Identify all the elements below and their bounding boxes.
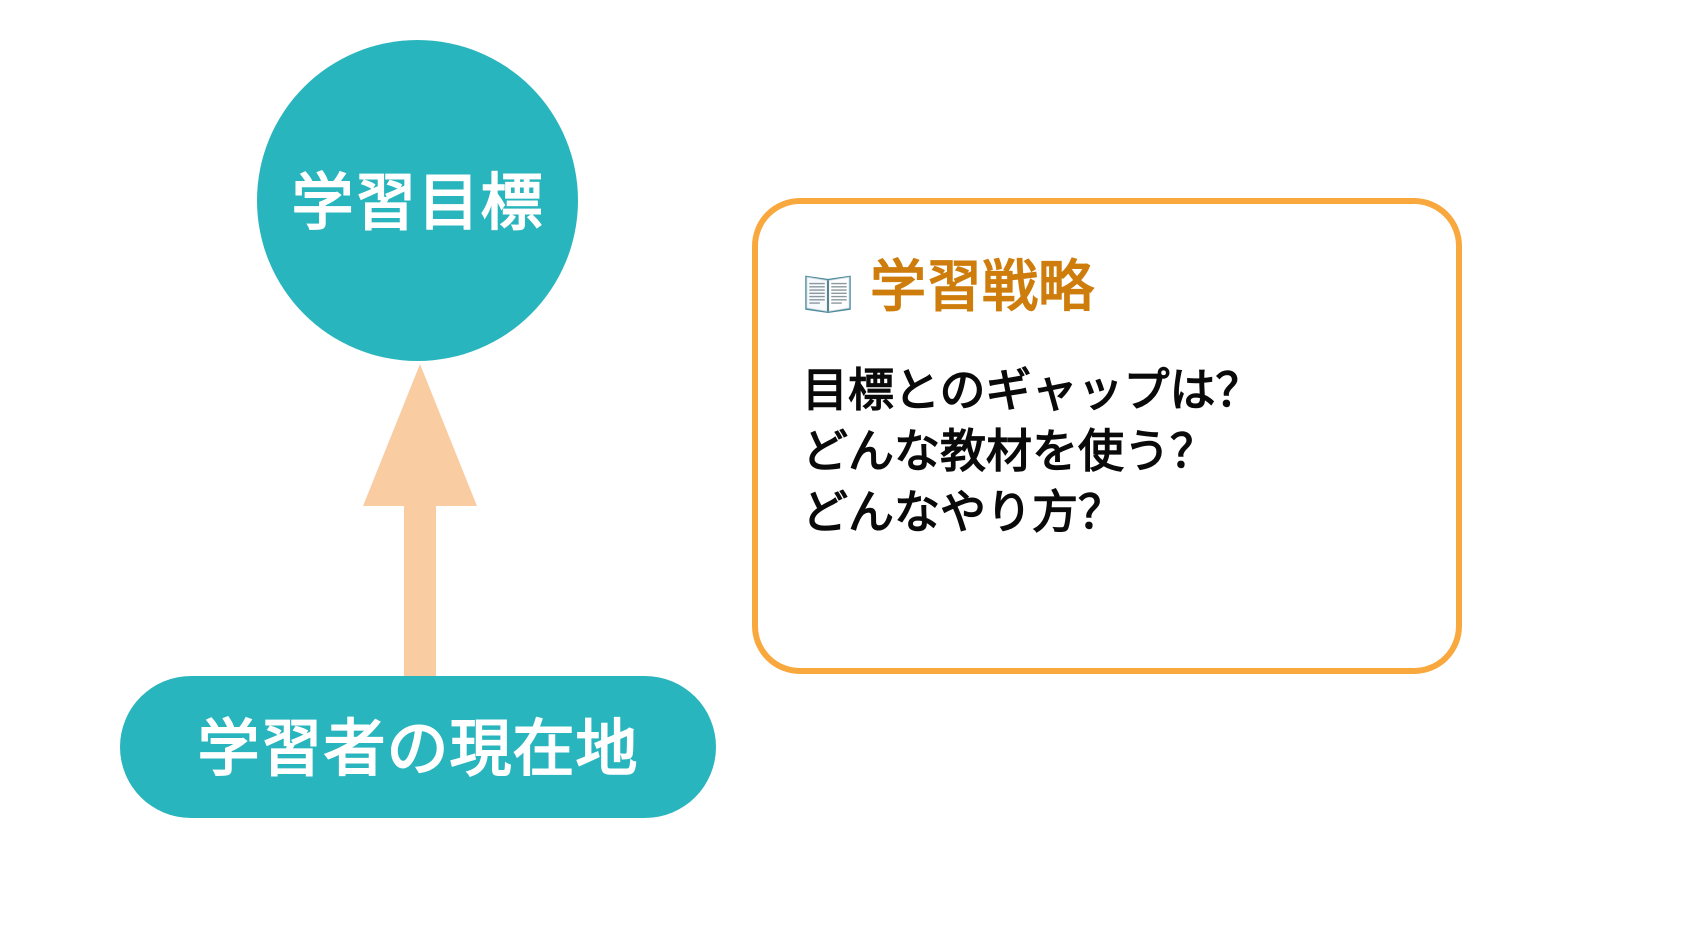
open-book-icon <box>802 265 854 317</box>
learner-current-position-label: 学習者の現在地 <box>197 718 638 780</box>
strategy-question-item: どんなやり方？ <box>802 482 1416 543</box>
slide-canvas: 学習目標 学習者の現在地 <box>0 0 1682 944</box>
learning-strategy-card: 学習戦略 目標とのギャップは？ どんな教材を使う？ どんなやり方？ <box>752 198 1462 674</box>
learning-goal-label: 学習目標 <box>291 172 543 234</box>
strategy-card-heading: 学習戦略 <box>802 260 1416 316</box>
strategy-card-title: 学習戦略 <box>870 260 1094 316</box>
learner-current-position-node: 学習者の現在地 <box>120 676 716 818</box>
learning-goal-node: 学習目標 <box>257 40 578 361</box>
strategy-question-list: 目標とのギャップは？ どんな教材を使う？ どんなやり方？ <box>802 360 1416 544</box>
strategy-question-item: どんな教材を使う？ <box>802 421 1416 482</box>
strategy-question-item: 目標とのギャップは？ <box>802 360 1416 421</box>
arrow-up-icon <box>360 358 480 698</box>
